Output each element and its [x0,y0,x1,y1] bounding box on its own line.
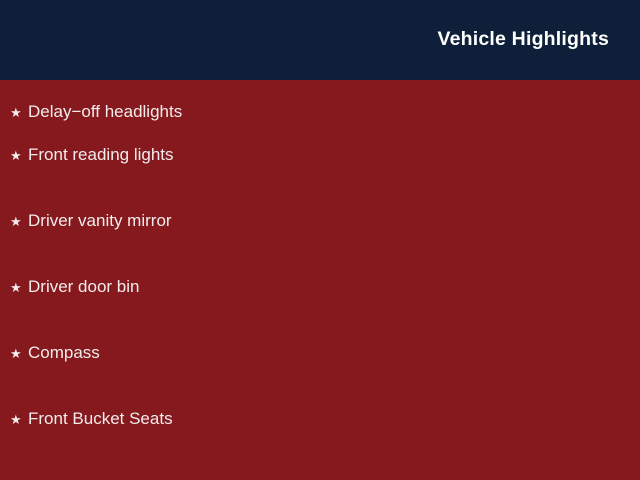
list-item: ★ Delay−off headlights [0,80,640,146]
list-item-label: Driver door bin [28,278,140,295]
header-bar: Vehicle Highlights [0,0,640,80]
list-item-label: Front reading lights [28,146,174,163]
star-bullet-icon: ★ [10,413,28,426]
vehicle-highlights-slide: Vehicle Highlights ★ Delay−off headlight… [0,0,640,480]
list-item-label: Front Bucket Seats [28,410,173,427]
list-item-label: Driver vanity mirror [28,212,172,229]
list-item: ★ Driver vanity mirror [0,212,640,278]
list-item: ★ Front reading lights [0,146,640,212]
list-item-label: Compass [28,344,100,361]
list-item-label: Delay−off headlights [28,103,182,120]
list-item: ★ Compass [0,344,640,410]
vehicle-highlights-list: ★ Delay−off headlights ★ Front reading l… [0,80,640,476]
list-item: ★ Driver door bin [0,278,640,344]
star-bullet-icon: ★ [10,106,28,119]
highlights-content: ★ Delay−off headlights ★ Front reading l… [0,80,640,480]
page-title: Vehicle Highlights [437,30,609,50]
list-item: ★ Front Bucket Seats [0,410,640,476]
star-bullet-icon: ★ [10,281,28,294]
star-bullet-icon: ★ [10,215,28,228]
star-bullet-icon: ★ [10,149,28,162]
star-bullet-icon: ★ [10,347,28,360]
